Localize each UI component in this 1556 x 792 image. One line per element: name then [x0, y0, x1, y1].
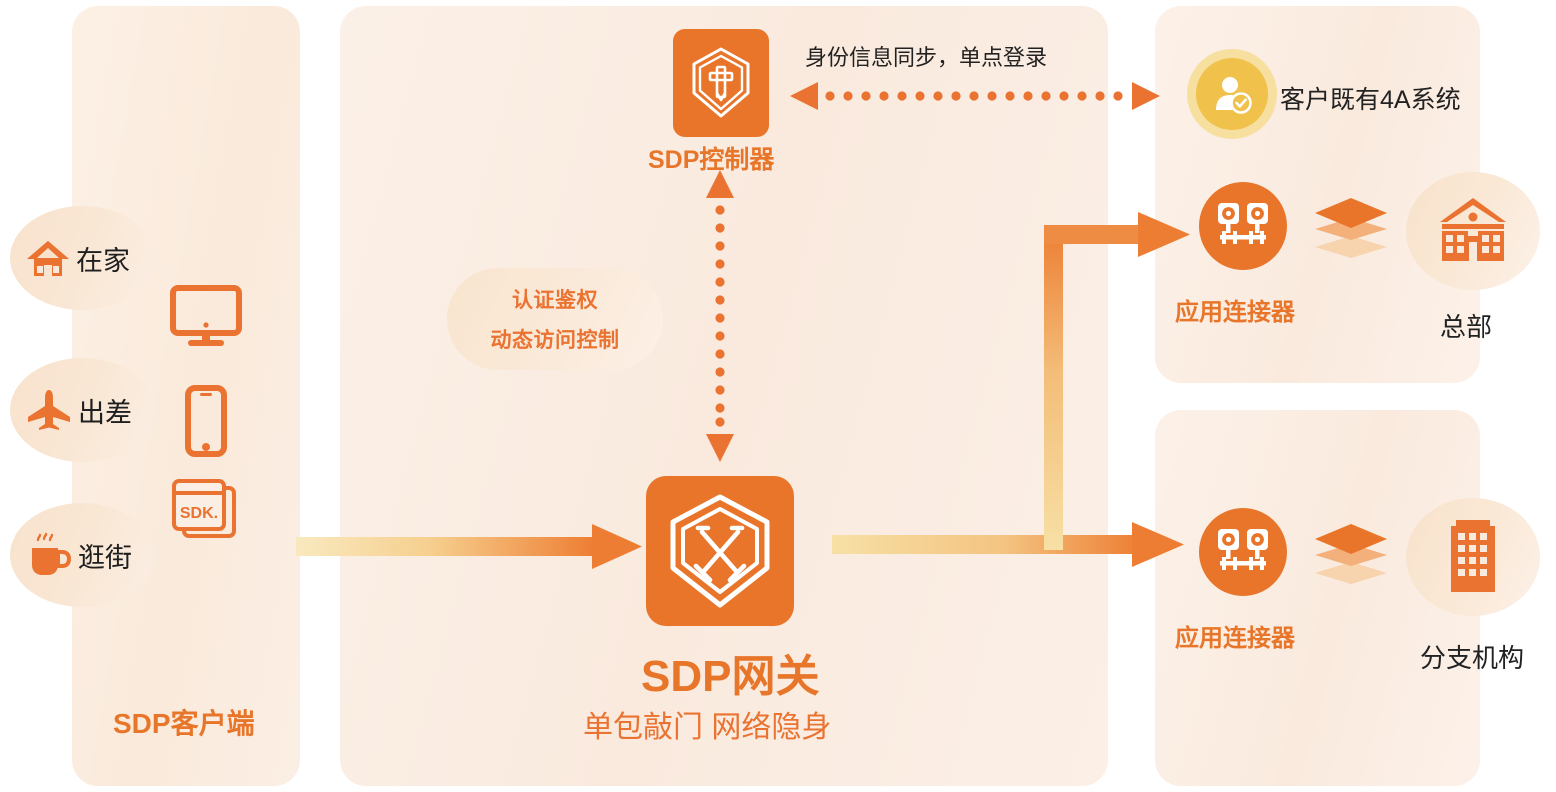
layers-stack-icon	[1313, 196, 1389, 258]
arrow-gateway-to-connectors	[832, 205, 1192, 575]
policy-line-1: 认证鉴权	[512, 284, 598, 314]
scenario-bubble-travel[interactable]: 出差	[10, 358, 154, 462]
mobile-phone-icon	[185, 385, 227, 457]
diagram-canvas: 在家 出差 逛街	[0, 0, 1556, 792]
policy-pill: 认证鉴权 动态访问控制	[447, 268, 663, 370]
sdp-gateway-subtitle: 单包敲门 网络隐身	[583, 702, 831, 746]
identity-system-avatar[interactable]	[1196, 58, 1268, 130]
app-connector-hq-label: 应用连接器	[1175, 292, 1295, 327]
coffee-cup-icon	[26, 531, 72, 579]
scenario-label: 出差	[78, 391, 132, 430]
app-connector-branch[interactable]	[1199, 508, 1287, 596]
airplane-icon	[26, 389, 72, 431]
policy-line-2: 动态访问控制	[491, 324, 620, 354]
layers-stack-icon	[1313, 522, 1389, 584]
svg-text:SDK.: SDK.	[180, 505, 218, 522]
sdk-stack-icon: SDK.	[170, 478, 238, 542]
arrow-controller-gateway	[697, 170, 743, 462]
user-verified-icon	[1210, 72, 1254, 116]
headquarters-building-icon	[1432, 196, 1514, 266]
home-icon	[26, 238, 70, 278]
shield-sword-icon	[688, 45, 754, 121]
app-connector-icon	[1214, 527, 1272, 577]
shield-crossed-swords-icon	[664, 492, 776, 610]
identity-sync-label: 身份信息同步，单点登录	[805, 40, 1047, 72]
app-connector-icon	[1214, 201, 1272, 251]
identity-system-label: 客户既有4A系统	[1280, 80, 1461, 116]
arrow-identity-sync	[790, 76, 1160, 116]
scenario-bubble-home[interactable]: 在家	[10, 206, 154, 310]
sdp-gateway-tile[interactable]	[646, 476, 794, 626]
sdp-controller-tile[interactable]	[673, 29, 769, 137]
app-connector-hq[interactable]	[1199, 182, 1287, 270]
arrow-client-to-gateway	[296, 518, 648, 578]
panel-client-label: SDP客户端	[113, 702, 255, 742]
scenario-label: 逛街	[78, 536, 132, 575]
hq-site-label: 总部	[1440, 307, 1492, 344]
scenario-label: 在家	[76, 239, 130, 278]
desktop-monitor-icon	[170, 285, 242, 350]
app-connector-branch-label: 应用连接器	[1175, 618, 1295, 653]
office-building-icon	[1443, 518, 1503, 594]
sdp-gateway-label: SDP网关	[641, 640, 819, 704]
branch-site-label: 分支机构	[1420, 638, 1524, 675]
scenario-bubble-shopping[interactable]: 逛街	[10, 503, 154, 607]
